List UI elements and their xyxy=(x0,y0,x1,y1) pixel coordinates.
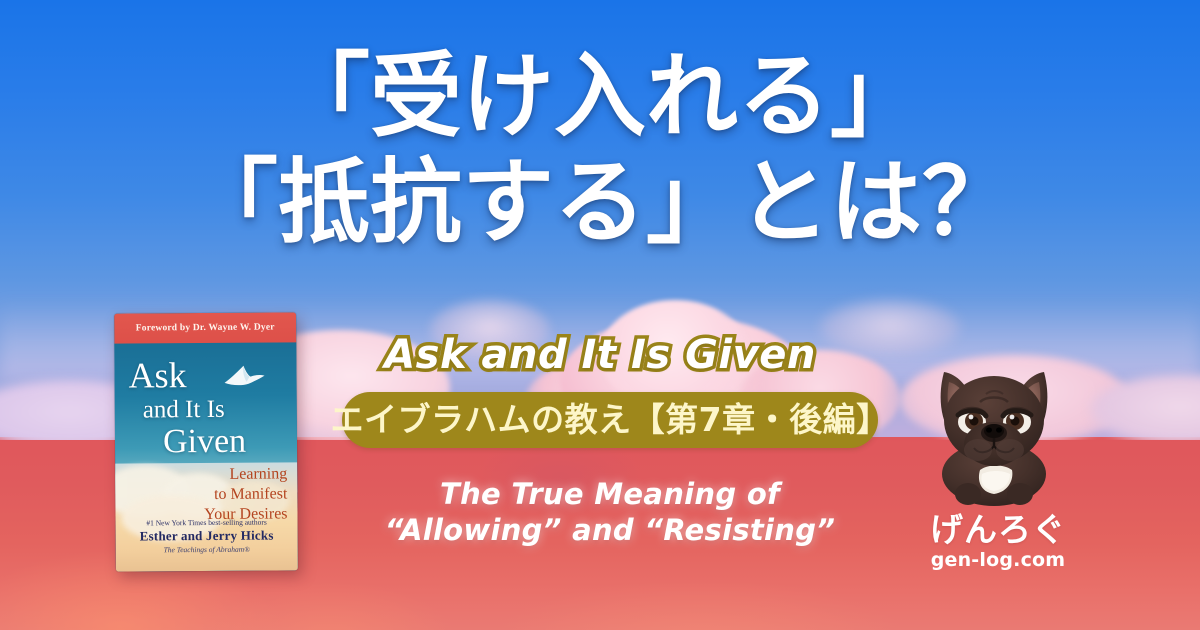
tagline-line-2: “Allowing” and “Resisting” xyxy=(230,512,990,548)
title-line-1: 「受け入れる」 xyxy=(0,44,1200,150)
ogp-banner: 「受け入れる」 「抵抗する」とは？ Ask and It Is Given エイ… xyxy=(0,0,1200,630)
book-title-line-2: and It Is xyxy=(143,397,225,424)
english-tagline: The True Meaning of “Allowing” and “Resi… xyxy=(230,476,990,548)
book-cover: Foreword by Dr. Wayne W. Dyer Ask and It… xyxy=(114,312,298,571)
book-cover-foreword-band: Foreword by Dr. Wayne W. Dyer xyxy=(114,312,296,343)
book-teachings-line: The Teachings of Abraham® xyxy=(116,543,298,555)
french-bulldog-mascot-icon xyxy=(918,358,1070,506)
book-title-line-1: Ask xyxy=(128,357,186,393)
tagline-line-1: The True Meaning of xyxy=(230,476,990,512)
book-authors: Esther and Jerry Hicks xyxy=(116,527,298,544)
site-logo[interactable]: げんろぐ gen-log.com xyxy=(918,512,1078,572)
logo-brand-url: gen-log.com xyxy=(918,548,1078,572)
book-foreword-text: Foreword by Dr. Wayne W. Dyer xyxy=(136,323,275,334)
page-title: 「受け入れる」 「抵抗する」とは？ xyxy=(0,44,1200,256)
chapter-badge-label: エイブラハムの教え【第7章・後編】 xyxy=(330,402,889,438)
book-title-line-3: Given xyxy=(163,425,246,460)
logo-brand-jp: げんろぐ xyxy=(918,512,1078,548)
book-author-block: #1 New York Times best-selling authors E… xyxy=(116,516,298,555)
seagull-icon xyxy=(222,363,266,393)
title-line-2: 「抵抗する」とは？ xyxy=(0,150,1200,256)
chapter-badge: エイブラハムの教え【第7章・後編】 xyxy=(342,392,878,448)
